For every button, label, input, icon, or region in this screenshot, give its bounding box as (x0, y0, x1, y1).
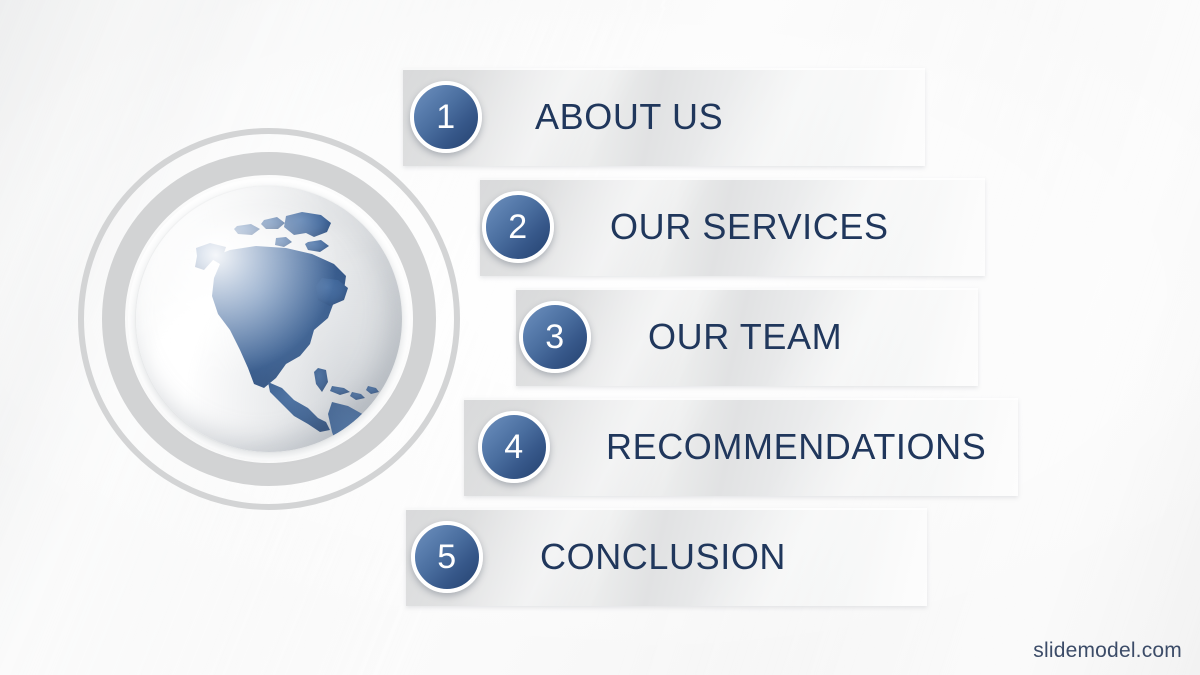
agenda-row[interactable]: 4RECOMMENDATIONS (0, 398, 1200, 496)
agenda-row[interactable]: 3OUR TEAM (0, 288, 1200, 386)
agenda-number-text: 2 (508, 210, 527, 244)
agenda-item-label: OUR SERVICES (610, 178, 889, 276)
slide-canvas: 1ABOUT US2OUR SERVICES3OUR TEAM4RECOMMEN… (0, 0, 1200, 675)
agenda-row[interactable]: 5CONCLUSION (0, 508, 1200, 606)
agenda-number-badge[interactable]: 1 (410, 81, 482, 153)
agenda-number-badge[interactable]: 4 (478, 411, 550, 483)
agenda-number-text: 1 (436, 100, 455, 134)
agenda-number-badge[interactable]: 5 (411, 521, 483, 593)
agenda-row[interactable]: 1ABOUT US (0, 68, 1200, 166)
agenda-number-text: 5 (437, 540, 456, 574)
agenda-number-badge[interactable]: 3 (519, 301, 591, 373)
agenda-number-text: 4 (504, 430, 523, 464)
agenda-item-label: OUR TEAM (648, 288, 842, 386)
agenda-item-label: ABOUT US (535, 68, 723, 166)
agenda-row[interactable]: 2OUR SERVICES (0, 178, 1200, 276)
agenda-item-label: CONCLUSION (540, 508, 786, 606)
watermark-slidemodel: slidemodel.com (1033, 639, 1182, 663)
agenda-item-label: RECOMMENDATIONS (606, 398, 986, 496)
agenda-number-badge[interactable]: 2 (482, 191, 554, 263)
agenda-number-text: 3 (545, 320, 564, 354)
